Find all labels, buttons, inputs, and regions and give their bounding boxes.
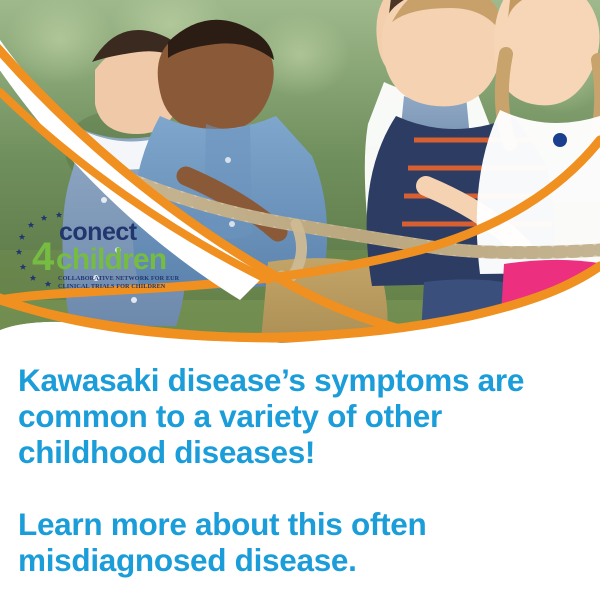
poster: conect 4 children COLLABORATIVE NETWORK … [0,0,600,600]
headline-text: Kawasaki disease’s symptoms are common t… [18,362,578,470]
logo-artwork: conect 4 children COLLABORATIVE NETWORK … [14,212,179,294]
logo-word-conect: conect [59,218,138,246]
logo-tagline-line2: CLINICAL TRIALS FOR CHILDREN [58,283,166,290]
subline-text: Learn more about this often misdiagnosed… [18,470,578,578]
conect4children-logo: conect 4 children COLLABORATIVE NETWORK … [14,212,179,294]
logo-word-children: children [56,243,166,276]
banner-photo [0,0,600,352]
logo-tagline-line1: COLLABORATIVE NETWORK FOR EUROPEAN [58,275,179,282]
tug-of-war-photo [0,0,600,352]
message-block: Kawasaki disease’s symptoms are common t… [18,362,578,578]
logo-numeral-4: 4 [32,235,55,279]
